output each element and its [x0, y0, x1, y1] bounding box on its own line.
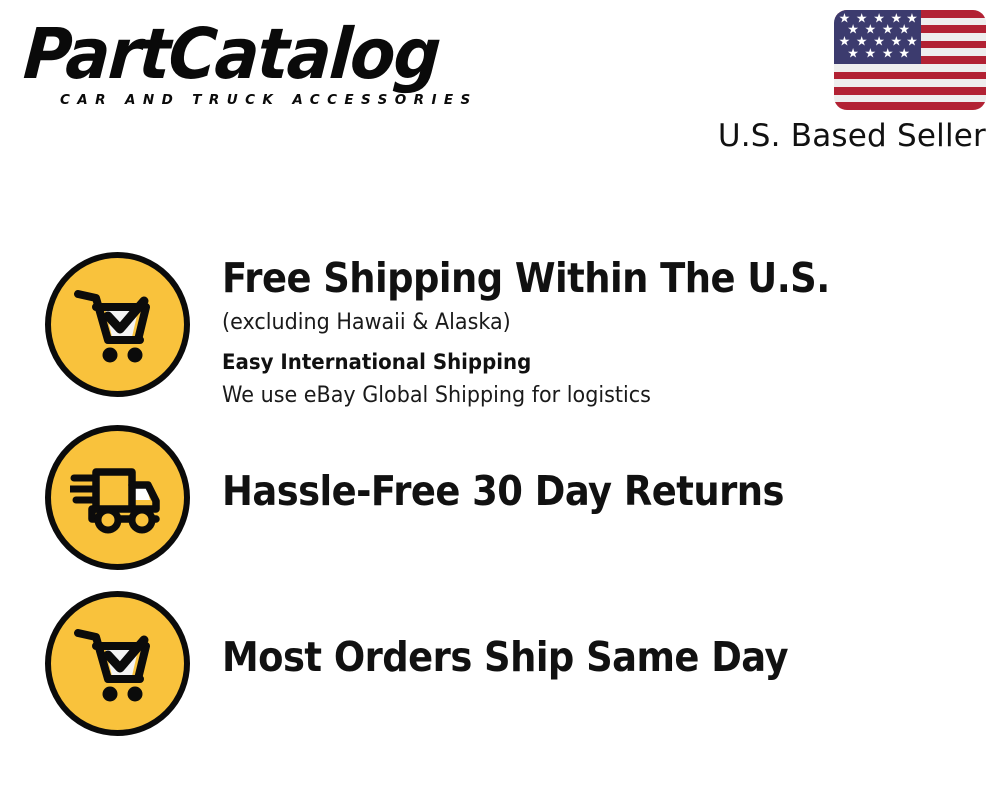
feature-text-block: Most Orders Ship Same Day	[222, 633, 982, 681]
us-flag-icon: ★ ★ ★ ★ ★ ★ ★ ★ ★ ★ ★ ★ ★ ★ ★ ★ ★ ★	[834, 10, 986, 110]
flag-stripe	[834, 95, 986, 103]
flag-canton: ★ ★ ★ ★ ★ ★ ★ ★ ★ ★ ★ ★ ★ ★ ★ ★ ★ ★	[834, 10, 921, 64]
flag-star: ★	[898, 47, 910, 60]
feature-note: (excluding Hawaii & Alaska)	[222, 306, 921, 338]
feature-subnote: We use eBay Global Shipping for logistic…	[222, 379, 921, 411]
flag-stripe	[834, 87, 986, 95]
fast-delivery-truck-icon	[45, 425, 190, 570]
feature-text-block: Free Shipping Within The U.S. (excluding…	[222, 254, 982, 411]
shopping-cart-check-icon	[45, 591, 190, 736]
us-based-seller-label: U.S. Based Seller	[686, 118, 986, 154]
feature-text-block: Hassle-Free 30 Day Returns	[222, 467, 982, 515]
brand-wordmark: PartCatalog	[22, 18, 469, 90]
feature-row: Free Shipping Within The U.S. (excluding…	[0, 252, 1000, 397]
flag-stripe	[834, 64, 986, 72]
flag-star: ★	[865, 47, 877, 60]
feature-row: Most Orders Ship Same Day	[0, 591, 1000, 736]
brand-logo[interactable]: PartCatalog CAR AND TRUCK ACCESSORIES	[24, 18, 494, 108]
flag-star: ★	[847, 47, 859, 60]
us-based-seller-badge: ★ ★ ★ ★ ★ ★ ★ ★ ★ ★ ★ ★ ★ ★ ★ ★ ★ ★ U.S.…	[686, 10, 986, 154]
flag-stripe	[834, 79, 986, 87]
shopping-cart-check-icon	[45, 252, 190, 397]
page-header: PartCatalog CAR AND TRUCK ACCESSORIES ★ …	[0, 0, 1000, 175]
feature-row: Hassle-Free 30 Day Returns	[0, 425, 1000, 570]
feature-headline: Hassle-Free 30 Day Returns	[222, 467, 906, 515]
feature-subhead: Easy International Shipping	[222, 348, 921, 378]
feature-headline: Free Shipping Within The U.S.	[222, 254, 906, 302]
flag-stripe	[834, 102, 986, 110]
flag-star: ★	[882, 47, 894, 60]
flag-stripe	[834, 72, 986, 80]
feature-headline: Most Orders Ship Same Day	[222, 633, 906, 681]
